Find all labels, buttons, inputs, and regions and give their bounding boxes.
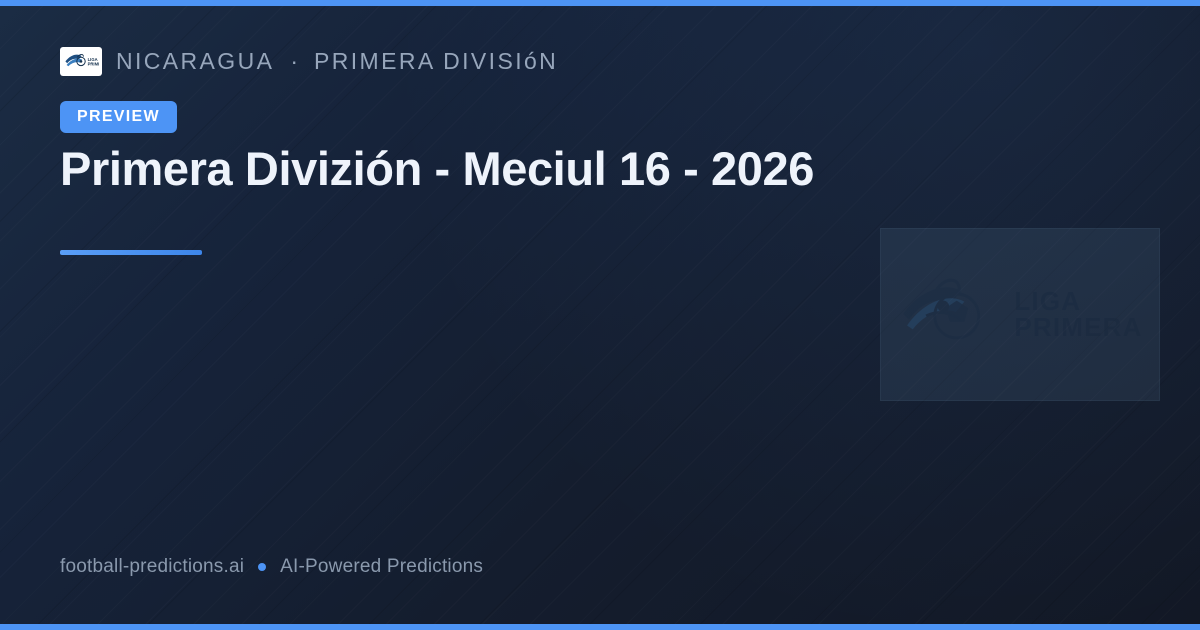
league-competition-label: PRIMERA DIVISIóN	[314, 48, 558, 75]
top-accent-bar	[0, 0, 1200, 6]
breadcrumb-separator: ·	[288, 48, 300, 75]
league-country-label: NICARAGUA	[116, 48, 274, 75]
logo-wordmark-line-1: LIGA	[1014, 289, 1142, 314]
bullet-dot-icon	[258, 563, 266, 571]
liga-primera-ball-swoosh-icon: LIGA PRIMERA	[897, 272, 1142, 358]
bottom-accent-bar	[0, 624, 1200, 630]
liga-primera-crest-icon: LIGA PRIMERA	[60, 47, 102, 76]
open-graph-preview-card: LIGA PRIMERA NICARAGUA · PRIMERA DIVISIó…	[0, 0, 1200, 630]
title-accent-rule	[60, 250, 202, 255]
svg-text:PRIMERA: PRIMERA	[88, 61, 99, 66]
footer: football-predictions.ai AI-Powered Predi…	[60, 556, 483, 578]
status-badge: PREVIEW	[60, 101, 177, 133]
logo-wordmark-line-2: PRIMERA	[1014, 315, 1142, 340]
footer-site-label: football-predictions.ai	[60, 556, 244, 578]
league-breadcrumb: LIGA PRIMERA NICARAGUA · PRIMERA DIVISIó…	[60, 47, 558, 76]
footer-tagline: AI-Powered Predictions	[280, 556, 483, 578]
league-logo-plate: LIGA PRIMERA	[880, 228, 1160, 401]
page-title: Primera Divizión - Meciul 16 - 2026	[60, 142, 940, 197]
